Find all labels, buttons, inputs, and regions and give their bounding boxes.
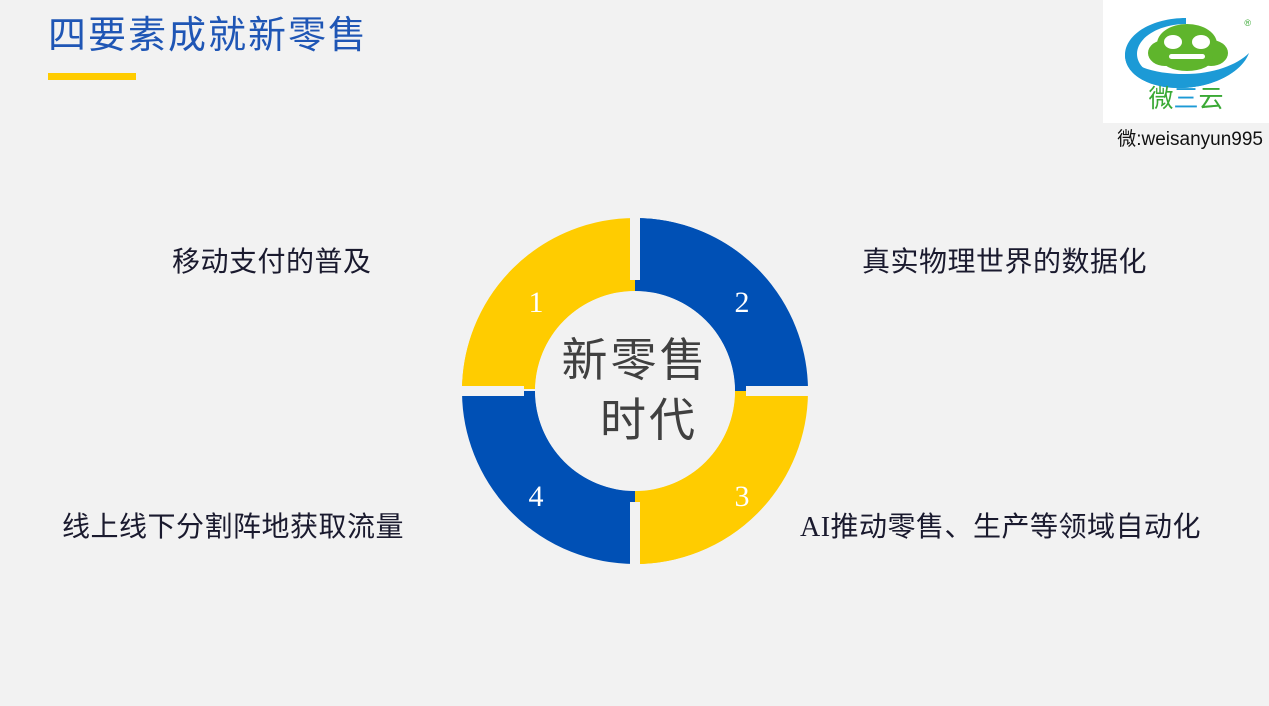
page-title: 四要素成就新零售	[48, 14, 368, 59]
segment-gap-right	[746, 386, 816, 396]
callout-label-2: 真实物理世界的数据化	[862, 240, 1147, 280]
logo-wordmark: 微三云	[1148, 85, 1223, 113]
slide-root: 四要素成就新零售	[0, 0, 1269, 706]
callout-label-1: 移动支付的普及	[172, 240, 372, 280]
donut-svg: 1 2 3 4	[460, 216, 810, 566]
donut-segment-1-number: 1	[529, 286, 544, 319]
title-block: 四要素成就新零售	[48, 14, 368, 80]
donut-segment-4-number: 4	[529, 480, 544, 513]
title-accent-bar	[48, 73, 136, 80]
brand-panel: 微三云 ®	[1103, 0, 1269, 123]
logo: 微三云 ®	[1117, 8, 1255, 116]
segment-gap-bottom	[630, 502, 640, 572]
segment-gap-left	[456, 386, 524, 396]
callout-label-4: 线上线下分割阵地获取流量	[62, 505, 404, 545]
callout-label-3: AI推动零售、生产等领域自动化	[800, 505, 1201, 545]
registered-trademark-icon: ®	[1244, 18, 1251, 28]
four-element-donut-diagram: 1 2 3 4 新零售 时代	[460, 216, 810, 566]
weisanyun-cloud-logo-icon: 微三云	[1117, 8, 1255, 116]
brand-handle: 微:weisanyun995	[1117, 124, 1263, 151]
donut-segment-2-number: 2	[735, 286, 750, 319]
donut-hub	[535, 291, 735, 491]
segment-gap-top	[630, 212, 640, 280]
donut-segment-3-number: 3	[735, 480, 750, 513]
